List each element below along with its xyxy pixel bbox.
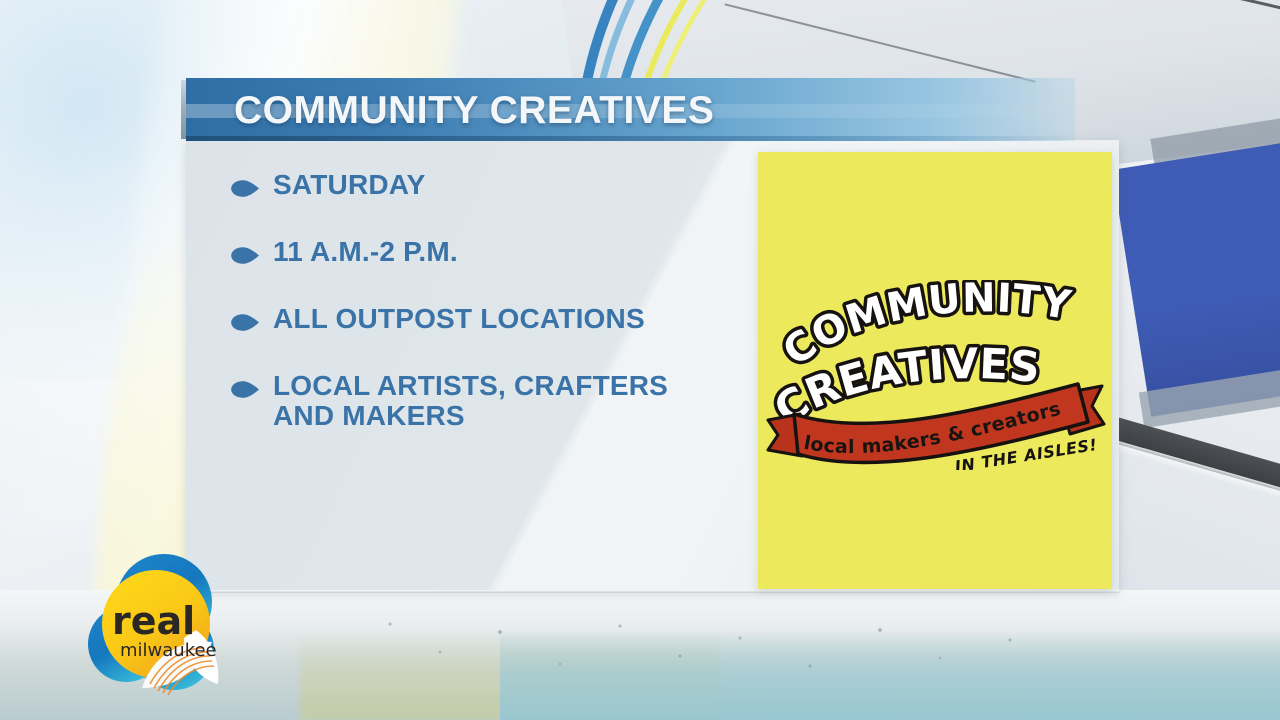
panel-bottom-edge xyxy=(186,590,1119,593)
logo-word-bottom-text: CREATIVES xyxy=(758,152,759,153)
list-item-label: LOCAL ARTISTS, CRAFTERS xyxy=(273,370,668,401)
list-item-label: 11 A.M.-2 P.M. xyxy=(273,237,458,267)
broadcast-screenshot: COMMUNITY CREATIVES SATURDAY 11 A.M.-2 P… xyxy=(0,0,1280,720)
teardrop-bullet-icon xyxy=(230,179,260,198)
list-item: 11 A.M.-2 P.M. xyxy=(230,237,750,267)
community-creatives-logo: COMMUNITY CREATIVES xyxy=(758,280,1112,470)
list-item-label: ALL OUTPOST LOCATIONS xyxy=(273,304,645,334)
teardrop-bullet-icon xyxy=(230,313,260,332)
list-item-label-line2: AND MAKERS xyxy=(273,401,668,431)
list-item-label-multiline: LOCAL ARTISTS, CRAFTERSAND MAKERS xyxy=(273,371,668,431)
list-item: ALL OUTPOST LOCATIONS xyxy=(230,304,750,334)
event-art-card: COMMUNITY CREATIVES xyxy=(758,152,1112,589)
teardrop-bullet-icon xyxy=(230,380,260,399)
list-item: SATURDAY xyxy=(230,170,750,200)
teardrop-bullet-icon xyxy=(230,246,260,265)
logo-word-top-text: COMMUNITY xyxy=(758,152,759,153)
logo-secondary-text: milwaukee xyxy=(120,640,217,661)
list-item-label: SATURDAY xyxy=(273,170,426,200)
logo-primary-text: real xyxy=(112,599,195,643)
studio-floor-speckle xyxy=(380,612,1080,682)
logo-ribbon-text: local makers & creators xyxy=(758,152,759,153)
bullet-list: SATURDAY 11 A.M.-2 P.M. ALL OUTPOST LOCA… xyxy=(230,170,750,431)
list-item: LOCAL ARTISTS, CRAFTERSAND MAKERS xyxy=(230,371,750,431)
real-milwaukee-logo: real milwaukee real milwaukee xyxy=(78,538,246,706)
page-title: COMMUNITY CREATIVES xyxy=(234,80,714,142)
logo-tagline-text: IN THE AISLES! xyxy=(758,152,759,153)
